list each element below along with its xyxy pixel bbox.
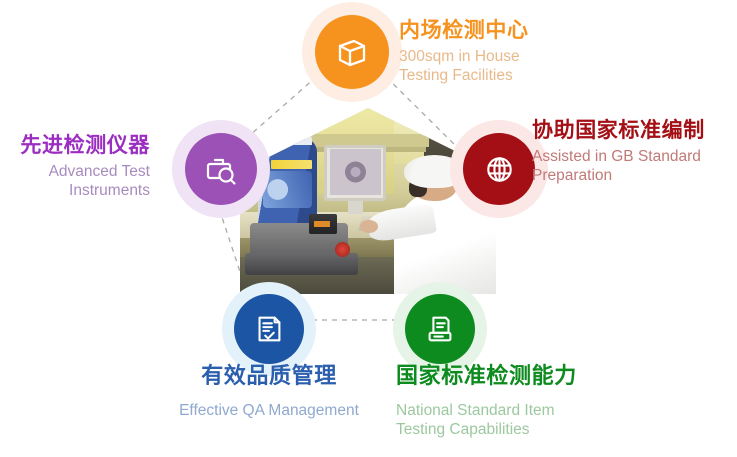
briefcase-search-icon[interactable]	[185, 133, 257, 205]
label-gb-standard-preparation: 协助国家标准编制 Assisted in GB Standard Prepara…	[532, 118, 737, 185]
label-national-standard-testing: 国家标准检测能力 National Standard Item Testing …	[396, 362, 726, 440]
subtitle-en-in-house-testing-center: 300sqm in House Testing Facilities	[399, 47, 699, 85]
globe-icon[interactable]	[463, 133, 535, 205]
label-in-house-testing-center: 内场检测中心 300sqm in House Testing Facilitie…	[399, 18, 699, 85]
cube-icon[interactable]	[315, 15, 389, 89]
title-cn-gb-standard-preparation: 协助国家标准编制	[532, 118, 737, 144]
title-cn-national-standard-testing: 国家标准检测能力	[396, 362, 726, 389]
document-check-icon[interactable]	[234, 294, 304, 364]
subtitle-en-gb-standard-preparation: Assisted in GB Standard Preparation	[532, 147, 737, 185]
label-advanced-test-instruments: 先进检测仪器 Advanced Test Instruments	[0, 133, 150, 200]
title-cn-in-house-testing-center: 内场检测中心	[399, 18, 699, 44]
infographic-canvas: 内场检测中心 300sqm in House Testing Facilitie…	[0, 0, 737, 457]
node-advanced-test-instruments[interactable]	[172, 120, 270, 218]
node-in-house-testing-center[interactable]	[302, 2, 402, 102]
subtitle-en-national-standard-testing: National Standard Item Testing Capabilit…	[396, 401, 726, 439]
printer-document-icon[interactable]	[405, 294, 475, 364]
subtitle-en-advanced-test-instruments: Advanced Test Instruments	[0, 162, 150, 200]
title-cn-advanced-test-instruments: 先进检测仪器	[0, 133, 150, 159]
